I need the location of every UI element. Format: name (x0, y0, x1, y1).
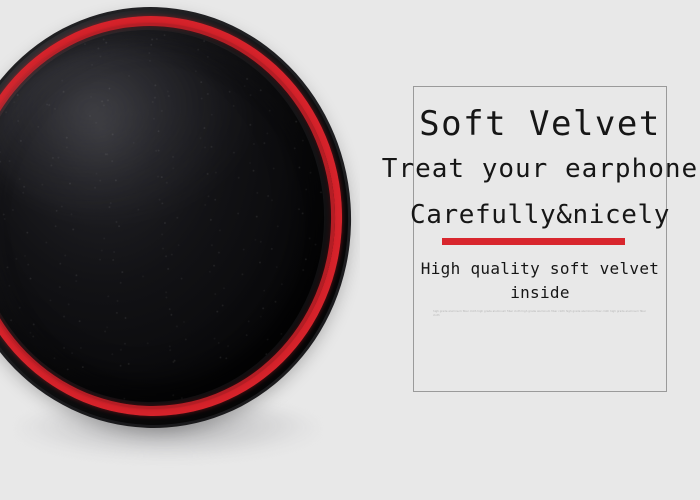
product-photo (0, 0, 360, 500)
text-panel-border (413, 86, 667, 392)
product-banner: Soft Velvet Treat your earphone Carefull… (0, 0, 700, 500)
